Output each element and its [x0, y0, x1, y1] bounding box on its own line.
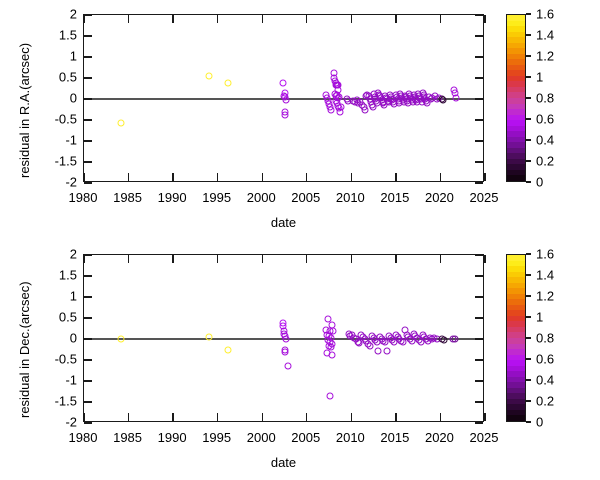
colorbar-tick-label: 1.2	[536, 50, 554, 63]
x-tick-label: 1990	[158, 431, 187, 444]
colorbar-band	[507, 15, 525, 21]
colorbar-tick	[526, 181, 531, 182]
colorbar-band	[507, 415, 525, 421]
data-point	[282, 111, 289, 118]
y-tick-label: 1.5	[59, 269, 77, 282]
colorbar-band	[507, 261, 525, 267]
y-tick-label: 0	[70, 92, 77, 105]
data-point	[451, 336, 458, 343]
colorbar-band	[507, 316, 525, 322]
y-tick-left	[84, 182, 92, 183]
colorbar-band	[507, 360, 525, 366]
x-tick-label: 2000	[247, 431, 276, 444]
y-tick-label: -1.5	[55, 395, 77, 408]
x-tick-label: 1980	[69, 191, 98, 204]
x-tick-label: 1985	[113, 191, 142, 204]
residuals-figure: -2-1.5-1-0.500.511.521980198519901995200…	[0, 0, 600, 480]
data-point	[337, 103, 344, 110]
data-point	[383, 347, 390, 354]
y-tick-label: -0.5	[55, 353, 77, 366]
colorbar-band	[507, 21, 525, 27]
colorbar-band	[507, 277, 525, 283]
y-tick-label: -1	[65, 134, 77, 147]
colorbar-band	[507, 393, 525, 399]
y-tick-right	[475, 182, 483, 183]
colorbar-tick-label: 1.2	[536, 290, 554, 303]
data-point	[205, 72, 212, 79]
colorbar-band	[507, 137, 525, 143]
colorbar-band	[507, 388, 525, 394]
colorbar-band	[507, 131, 525, 137]
colorbar-band	[507, 109, 525, 115]
colorbar-band	[507, 355, 525, 361]
colorbar-band	[507, 288, 525, 294]
colorbar	[506, 254, 526, 422]
colorbar-band	[507, 332, 525, 338]
colorbar-band	[507, 399, 525, 405]
data-point	[327, 106, 334, 113]
x-tick-label: 2005	[291, 431, 320, 444]
colorbar-tick-label: 0.8	[536, 332, 554, 345]
colorbar-band	[507, 153, 525, 159]
y-tick-label: 0.5	[59, 311, 77, 324]
colorbar	[506, 14, 526, 182]
data-point	[279, 79, 286, 86]
colorbar-tick-label: 1	[536, 71, 543, 84]
colorbar-tick	[526, 358, 531, 359]
x-tick-label: 2025	[470, 431, 499, 444]
y-tick-label: 1	[70, 290, 77, 303]
data-point	[283, 336, 290, 343]
data-point	[118, 119, 125, 126]
data-point	[285, 363, 292, 370]
x-tick-label: 1995	[202, 431, 231, 444]
x-tick-label: 1995	[202, 191, 231, 204]
x-tick-label: 2015	[380, 191, 409, 204]
x-tick-label: 2005	[291, 191, 320, 204]
colorbar-band	[507, 321, 525, 327]
colorbar-tick	[526, 274, 531, 275]
colorbar-band	[507, 159, 525, 165]
colorbar-tick-label: 1.6	[536, 248, 554, 261]
panel-residual-ra: -2-1.5-1-0.500.511.521980198519901995200…	[0, 0, 600, 240]
colorbar-band	[507, 255, 525, 261]
colorbar-band	[507, 98, 525, 104]
y-tick-label: 2	[70, 248, 77, 261]
colorbar-tick-label: 1.4	[536, 29, 554, 42]
colorbar-band	[507, 65, 525, 71]
y-tick-label: 1	[70, 50, 77, 63]
data-point	[441, 336, 448, 343]
colorbar-band	[507, 81, 525, 87]
colorbar-band	[507, 48, 525, 54]
colorbar-band	[507, 120, 525, 126]
colorbar-band	[507, 164, 525, 170]
colorbar-band	[507, 104, 525, 110]
colorbar-tick-label: 0.6	[536, 113, 554, 126]
colorbar-band	[507, 266, 525, 272]
x-tick-top	[484, 15, 485, 23]
plot-area-residual-dec	[83, 254, 484, 422]
colorbar-band	[507, 327, 525, 333]
x-axis-title: date	[271, 215, 296, 230]
y-tick-label: -0.5	[55, 113, 77, 126]
data-point	[440, 96, 447, 103]
colorbar-tick	[526, 34, 531, 35]
colorbar-band	[507, 54, 525, 60]
colorbar-band	[507, 76, 525, 82]
y-tick-right	[475, 422, 483, 423]
colorbar-band	[507, 148, 525, 154]
plot-area-residual-ra	[83, 14, 484, 182]
data-point-layer	[84, 255, 483, 421]
colorbar-tick	[526, 337, 531, 338]
x-tick-top	[484, 255, 485, 263]
data-point	[118, 336, 125, 343]
colorbar-tick-label: 1.6	[536, 8, 554, 21]
y-tick-label: -1.5	[55, 155, 77, 168]
colorbar-band	[507, 126, 525, 132]
colorbar-band	[507, 142, 525, 148]
data-point	[205, 334, 212, 341]
data-point-layer	[84, 15, 483, 181]
y-axis-title: residual in R.A.(arcsec)	[17, 43, 32, 178]
x-tick-label: 2020	[425, 431, 454, 444]
x-tick-bottom	[484, 413, 485, 421]
x-tick-label: 1985	[113, 431, 142, 444]
colorbar-band	[507, 87, 525, 93]
x-tick-label: 2015	[380, 431, 409, 444]
y-tick-label: 2	[70, 8, 77, 21]
data-point	[281, 349, 288, 356]
colorbar-band	[507, 170, 525, 176]
x-tick-label: 2000	[247, 191, 276, 204]
colorbar-tick	[526, 295, 531, 296]
colorbar-tick-label: 0.4	[536, 374, 554, 387]
colorbar-tick	[526, 421, 531, 422]
data-point	[328, 351, 335, 358]
y-tick-label: 0	[70, 332, 77, 345]
data-point	[225, 346, 232, 353]
colorbar-tick-label: 0.6	[536, 353, 554, 366]
colorbar-band	[507, 349, 525, 355]
x-tick-label: 2025	[470, 191, 499, 204]
data-point	[361, 107, 368, 114]
colorbar-band	[507, 32, 525, 38]
colorbar-tick	[526, 55, 531, 56]
colorbar-band	[507, 366, 525, 372]
colorbar-tick	[526, 118, 531, 119]
colorbar-band	[507, 43, 525, 49]
colorbar-tick	[526, 139, 531, 140]
y-axis-title: residual in Dec.(arcsec)	[17, 281, 32, 418]
colorbar-tick-label: 1	[536, 311, 543, 324]
y-tick-label: 0.5	[59, 71, 77, 84]
colorbar-tick	[526, 76, 531, 77]
colorbar-tick-label: 0.8	[536, 92, 554, 105]
panel-residual-dec: -2-1.5-1-0.500.511.521980198519901995200…	[0, 240, 600, 480]
colorbar-band	[507, 26, 525, 32]
y-tick-left	[84, 422, 92, 423]
colorbar-band	[507, 371, 525, 377]
y-tick-label: 1.5	[59, 29, 77, 42]
colorbar-tick	[526, 379, 531, 380]
data-point	[283, 96, 290, 103]
colorbar-band	[507, 299, 525, 305]
colorbar-band	[507, 377, 525, 383]
colorbar-band	[507, 175, 525, 181]
data-point	[367, 342, 374, 349]
colorbar-tick	[526, 13, 531, 14]
colorbar-tick	[526, 97, 531, 98]
x-tick-label: 2010	[336, 191, 365, 204]
colorbar-band	[507, 310, 525, 316]
data-point	[452, 95, 459, 102]
colorbar-band	[507, 382, 525, 388]
data-point	[400, 339, 407, 346]
x-tick-label: 1990	[158, 191, 187, 204]
colorbar-tick	[526, 253, 531, 254]
data-point	[326, 392, 333, 399]
colorbar-tick	[526, 316, 531, 317]
data-point	[375, 348, 382, 355]
y-tick-label: -1	[65, 374, 77, 387]
colorbar-tick-label: 0.2	[536, 155, 554, 168]
colorbar-band	[507, 294, 525, 300]
x-tick-label: 1980	[69, 431, 98, 444]
colorbar-tick	[526, 400, 531, 401]
y-tick-label: -2	[65, 416, 77, 429]
colorbar-band	[507, 344, 525, 350]
colorbar-band	[507, 305, 525, 311]
colorbar-band	[507, 410, 525, 416]
colorbar-tick-label: 0.2	[536, 395, 554, 408]
data-point	[225, 79, 232, 86]
x-tick-label: 2020	[425, 191, 454, 204]
colorbar-tick	[526, 160, 531, 161]
colorbar-gradient	[506, 14, 526, 182]
colorbar-tick-label: 0.4	[536, 134, 554, 147]
colorbar-band	[507, 115, 525, 121]
colorbar-tick-label: 0	[536, 176, 543, 189]
colorbar-band	[507, 92, 525, 98]
colorbar-band	[507, 404, 525, 410]
colorbar-band	[507, 37, 525, 43]
x-tick-bottom	[484, 173, 485, 181]
colorbar-band	[507, 338, 525, 344]
x-tick-label: 2010	[336, 431, 365, 444]
colorbar-tick-label: 0	[536, 416, 543, 429]
colorbar-tick-label: 1.4	[536, 269, 554, 282]
y-tick-label: -2	[65, 176, 77, 189]
colorbar-band	[507, 70, 525, 76]
colorbar-gradient	[506, 254, 526, 422]
x-axis-title: date	[271, 455, 296, 470]
colorbar-band	[507, 59, 525, 65]
colorbar-band	[507, 272, 525, 278]
colorbar-band	[507, 283, 525, 289]
